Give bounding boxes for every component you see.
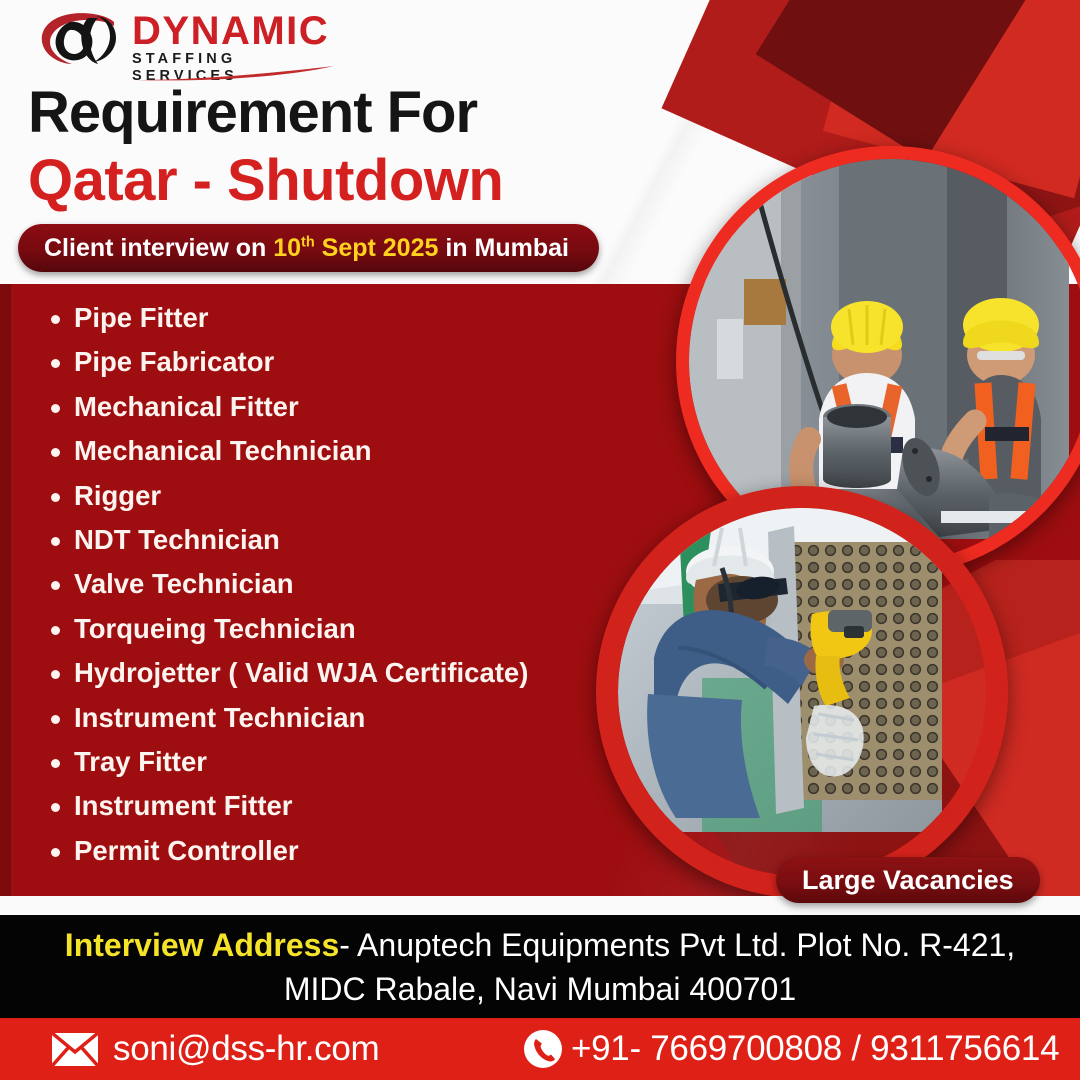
dynamic-script-monogram-icon (36, 12, 128, 70)
interview-date-highlight: 10th Sept 2025 (273, 234, 438, 262)
address-line-1: Anuptech Equipments Pvt Ltd. Plot No. R-… (357, 927, 1015, 963)
job-role-item: Instrument Technician (34, 696, 634, 740)
interview-suffix: in Mumbai (438, 234, 569, 262)
headline-line-2: Qatar - Shutdown (28, 150, 503, 212)
job-role-item: NDT Technician (34, 518, 634, 562)
email-address: soni@dss-hr.com (113, 1029, 379, 1069)
envelope-icon (52, 1033, 98, 1066)
job-roles-list: Pipe FitterPipe FabricatorMechanical Fit… (34, 296, 634, 873)
interview-date-text: Client interview on 10th Sept 2025 in Mu… (44, 234, 569, 263)
interview-address-text: Interview Address- Anuptech Equipments P… (35, 923, 1045, 1011)
job-role-item: Mechanical Technician (34, 429, 634, 473)
job-role-item: Hydrojetter ( Valid WJA Certificate) (34, 651, 634, 695)
pipe-fitters-illustration (689, 159, 1069, 539)
phone-icon (524, 1030, 562, 1068)
phone-contact[interactable]: +91- 7669700808 / 9311756614 (524, 1029, 1059, 1069)
job-role-item: Torqueing Technician (34, 607, 634, 651)
interview-date-banner: Client interview on 10th Sept 2025 in Mu… (18, 224, 599, 272)
interview-date-suffix: th (301, 234, 315, 250)
address-line-2: MIDC Rabale, Navi Mumbai 400701 (284, 971, 796, 1007)
heat-exchanger-technician-photo (596, 486, 1008, 898)
job-role-item: Permit Controller (34, 829, 634, 873)
left-edge-strip (0, 284, 11, 898)
phone-numbers: +91- 7669700808 / 9311756614 (571, 1029, 1059, 1069)
interview-date-day: 10 (273, 234, 301, 262)
interview-date-rest: Sept 2025 (315, 234, 439, 262)
job-role-item: Valve Technician (34, 562, 634, 606)
interview-prefix: Client interview on (44, 234, 273, 262)
large-vacancies-label: Large Vacancies (802, 865, 1014, 896)
interview-address-label: Interview Address (65, 927, 339, 963)
company-logo: DYNAMIC STAFFING SERVICES (36, 10, 336, 76)
job-role-item: Tray Fitter (34, 740, 634, 784)
recruitment-poster: DYNAMIC STAFFING SERVICES Requirement Fo… (0, 0, 1080, 1080)
heat-exchanger-photo-inner (618, 508, 986, 876)
email-contact[interactable]: soni@dss-hr.com (52, 1029, 379, 1069)
brand-name: DYNAMIC (132, 12, 336, 50)
job-role-item: Pipe Fabricator (34, 340, 634, 384)
job-role-item: Pipe Fitter (34, 296, 634, 340)
contact-footer: soni@dss-hr.com +91- 7669700808 / 931175… (0, 1018, 1080, 1080)
job-role-item: Mechanical Fitter (34, 385, 634, 429)
headline-line-1: Requirement For (28, 82, 477, 144)
job-role-item: Instrument Fitter (34, 784, 634, 828)
large-vacancies-badge: Large Vacancies (776, 857, 1040, 903)
heat-exchanger-illustration (618, 508, 942, 832)
job-role-item: Rigger (34, 474, 634, 518)
interview-address-bar: Interview Address- Anuptech Equipments P… (0, 915, 1080, 1018)
address-separator: - (339, 927, 357, 963)
